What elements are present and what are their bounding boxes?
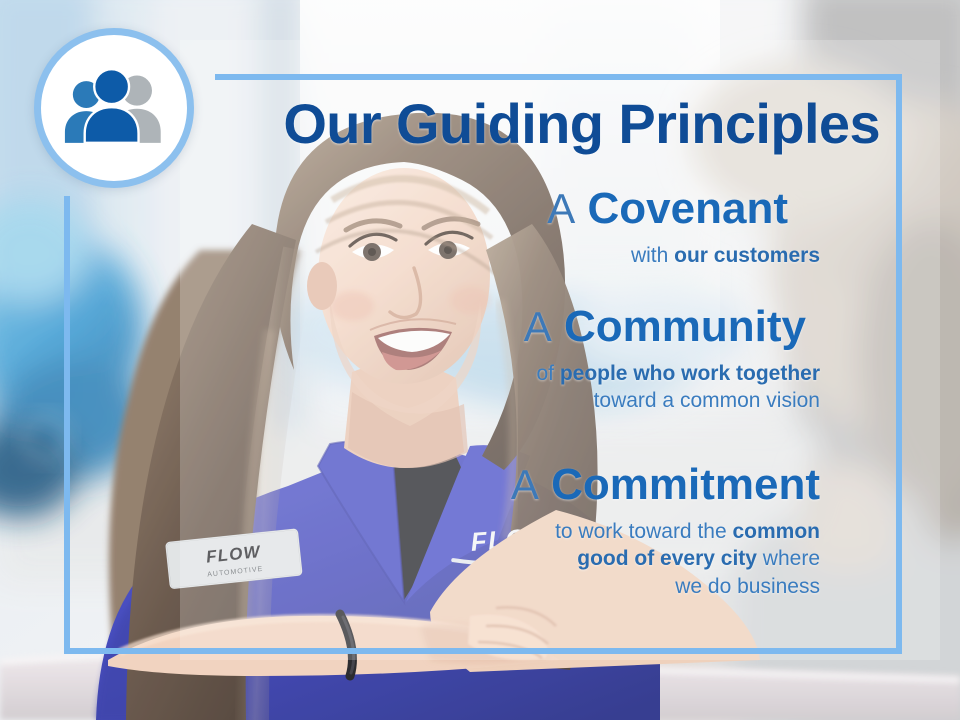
plain-text: with <box>631 244 674 267</box>
principle-covenant: A Covenant with our customers <box>0 185 880 269</box>
page-title: Our Guiding Principles <box>0 96 880 152</box>
plain-text: where <box>757 547 820 570</box>
principle-subtext-line: to work toward the common <box>0 518 820 546</box>
plain-text: we do business <box>675 575 820 598</box>
guiding-principles-graphic: FLOW AUTOMOTIVE FLOW <box>0 0 960 720</box>
principle-article: A <box>547 185 575 232</box>
principle-word: Community <box>564 302 806 351</box>
plain-text: toward a common vision <box>594 389 820 412</box>
principle-subtext-commitment: to work toward the commongood of every c… <box>0 518 880 602</box>
principle-word: Covenant <box>588 184 788 233</box>
principle-commitment: A Commitment to work toward the commongo… <box>0 461 880 601</box>
principle-heading-commitment: A Commitment <box>0 461 880 509</box>
principle-subtext-covenant: with our customers <box>0 242 880 270</box>
principle-heading-covenant: A Covenant <box>0 185 880 233</box>
principle-word: Commitment <box>551 460 820 509</box>
emphasis-text: common <box>732 520 820 543</box>
emphasis-text: our customers <box>674 244 820 267</box>
principle-subtext-line: good of every city where <box>0 545 820 573</box>
principle-subtext-line: with our customers <box>0 242 820 270</box>
principle-heading-community: A Community <box>0 303 880 351</box>
emphasis-text: good of every city <box>577 547 757 570</box>
plain-text: of <box>536 362 559 385</box>
principle-article: A <box>511 461 539 508</box>
principle-community: A Community of people who work togethert… <box>0 303 880 415</box>
principle-subtext-line: we do business <box>0 573 820 601</box>
principle-subtext-community: of people who work togethertoward a comm… <box>0 360 880 416</box>
emphasis-text: people who work together <box>560 362 820 385</box>
plain-text: to work toward the <box>555 520 732 543</box>
principle-subtext-line: toward a common vision <box>0 387 820 415</box>
principles-content: Our Guiding Principles A Covenant with o… <box>0 0 960 720</box>
principle-subtext-line: of people who work together <box>0 360 820 388</box>
principle-article: A <box>524 303 552 350</box>
